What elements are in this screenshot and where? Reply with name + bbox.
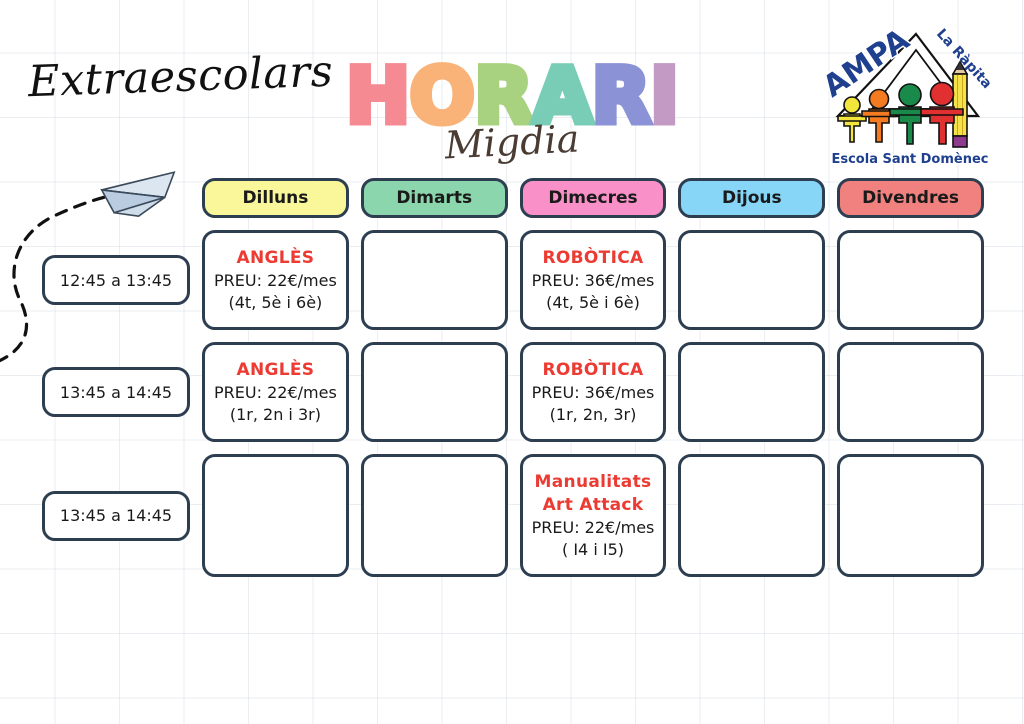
- activity-cell-empty[interactable]: [837, 230, 984, 330]
- activity-cell-empty[interactable]: [837, 454, 984, 577]
- time-slot-label: 13:45 a 14:45: [42, 491, 190, 541]
- table-row: 13:45 a 14:45ANGLÈSPREU: 22€/mes(1r, 2n …: [0, 342, 1024, 442]
- activity-cell[interactable]: ANGLÈSPREU: 22€/mes(4t, 5è i 6è): [202, 230, 349, 330]
- activity-title: ROBÒTICA: [543, 248, 644, 268]
- ampa-logo: AMPA La Ràpita: [820, 12, 1000, 172]
- page-title-extraescolars: Extraescolars: [27, 47, 329, 107]
- activity-grades: (4t, 5è i 6è): [229, 293, 323, 312]
- activity-cell-empty[interactable]: [361, 230, 508, 330]
- activity-title: ANGLÈS: [236, 248, 314, 268]
- activity-cell-empty[interactable]: [678, 230, 825, 330]
- activity-title: ANGLÈS: [236, 360, 314, 380]
- activity-price: PREU: 22€/mes: [214, 383, 337, 402]
- day-header-dijous[interactable]: Dijous: [678, 178, 825, 218]
- table-header-row: DillunsDimartsDimecresDijousDivendres: [0, 178, 1024, 218]
- activity-grades: (1r, 2n, 3r): [550, 405, 637, 424]
- day-header-dilluns[interactable]: Dilluns: [202, 178, 349, 218]
- activity-cell[interactable]: ANGLÈSPREU: 22€/mes(1r, 2n i 3r): [202, 342, 349, 442]
- table-row: 13:45 a 14:45ManualitatsArt AttackPREU: …: [0, 454, 1024, 577]
- activity-grades: ( I4 i I5): [562, 540, 624, 559]
- activity-cell-empty[interactable]: [678, 342, 825, 442]
- schedule-poster: Extraescolars HORARI Migdia AMPA La Ràpi…: [0, 0, 1024, 724]
- activity-cell[interactable]: ManualitatsArt AttackPREU: 22€/mes( I4 i…: [520, 454, 667, 577]
- day-header-dimarts[interactable]: Dimarts: [361, 178, 508, 218]
- activity-cell-empty[interactable]: [361, 342, 508, 442]
- activity-price: PREU: 36€/mes: [532, 383, 655, 402]
- activity-price: PREU: 22€/mes: [532, 518, 655, 537]
- header-corner-spacer: [42, 178, 190, 218]
- activity-cell-empty[interactable]: [361, 454, 508, 577]
- activity-grades: (4t, 5è i 6è): [546, 293, 640, 312]
- day-header-divendres[interactable]: Divendres: [837, 178, 984, 218]
- activity-cell[interactable]: ROBÒTICAPREU: 36€/mes(1r, 2n, 3r): [520, 342, 667, 442]
- activity-title: Manualitats: [535, 472, 652, 492]
- activity-price: PREU: 36€/mes: [532, 271, 655, 290]
- main-title-block: HORARI Migdia: [344, 58, 680, 170]
- activity-cell-empty[interactable]: [678, 454, 825, 577]
- time-slot-label: 13:45 a 14:45: [42, 367, 190, 417]
- poster-header: Extraescolars HORARI Migdia AMPA La Ràpi…: [0, 0, 1024, 178]
- activity-title: Art Attack: [543, 495, 644, 515]
- schedule-table: DillunsDimartsDimecresDijousDivendres 12…: [0, 178, 1024, 577]
- pencil-icon: [953, 62, 967, 147]
- table-row: 12:45 a 13:45ANGLÈSPREU: 22€/mes(4t, 5è …: [0, 230, 1024, 330]
- activity-cell-empty[interactable]: [837, 342, 984, 442]
- activity-title: ROBÒTICA: [543, 360, 644, 380]
- day-header-dimecres[interactable]: Dimecres: [520, 178, 667, 218]
- activity-price: PREU: 22€/mes: [214, 271, 337, 290]
- activity-cell-empty[interactable]: [202, 454, 349, 577]
- activity-cell[interactable]: ROBÒTICAPREU: 36€/mes(4t, 5è i 6è): [520, 230, 667, 330]
- people-group-icon: [838, 83, 963, 145]
- time-slot-label: 12:45 a 13:45: [42, 255, 190, 305]
- logo-school-text: Escola Sant Domènec: [831, 152, 988, 167]
- main-title-letter-0: H: [346, 58, 409, 134]
- activity-grades: (1r, 2n i 3r): [230, 405, 321, 424]
